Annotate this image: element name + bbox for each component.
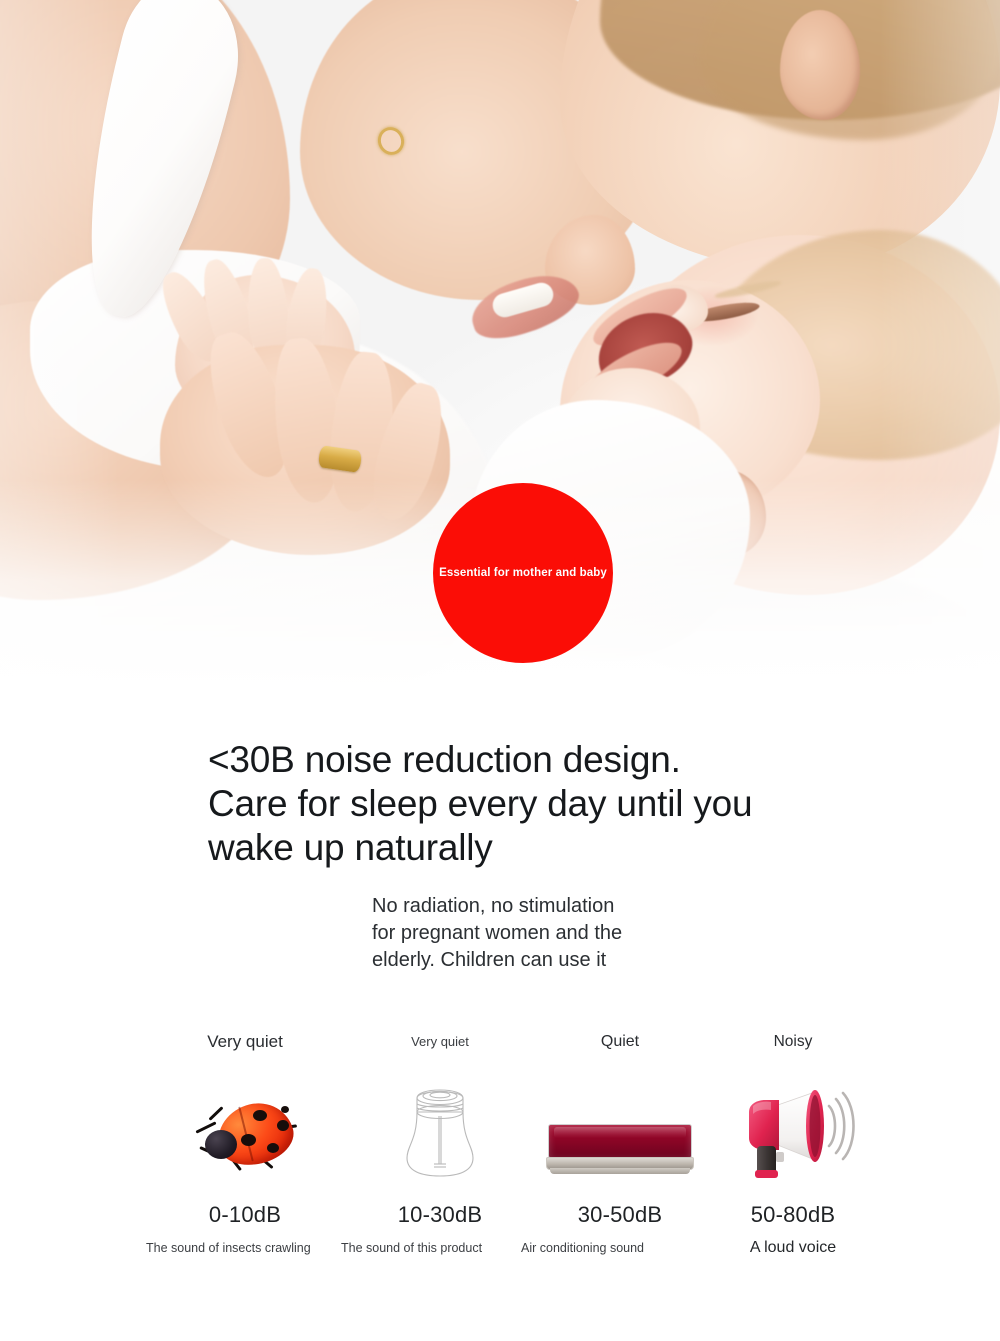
essential-badge-label: Essential for mother and baby [439,567,607,579]
icon-container [678,1078,908,1178]
air-conditioner-icon [544,1122,696,1178]
essential-badge: Essential for mother and baby [433,483,613,663]
comparison-column-loud-voice: Noisy [678,1030,908,1270]
product-detail-page: Essential for mother and baby <30B noise… [0,0,1000,1341]
subtitle-line-3: elderly. Children can use it [372,947,792,974]
humidifier-icon [403,1086,477,1178]
noise-comparison-chart: Very quiet [0,1030,1000,1270]
page-title: <30B noise reduction design. Care for sl… [208,738,908,870]
headline-line-2: Care for sleep every day until you [208,782,908,826]
subtitle-line-2: for pregnant women and the [372,920,792,947]
noise-level-label: Noisy [678,1030,908,1056]
noise-source-caption: A loud voice [678,1240,908,1256]
page-bottom-spacer [0,1270,1000,1341]
subtitle-line-1: No radiation, no stimulation [372,893,792,920]
megaphone-icon [731,1086,855,1178]
decibel-range: 50-80dB [678,1202,908,1228]
ladybug-icon [193,1096,297,1178]
hero-section: Essential for mother and baby [0,0,1000,690]
headline-line-1: <30B noise reduction design. [208,738,908,782]
headline-line-3: wake up naturally [208,826,908,870]
page-subtitle: No radiation, no stimulation for pregnan… [372,893,792,974]
